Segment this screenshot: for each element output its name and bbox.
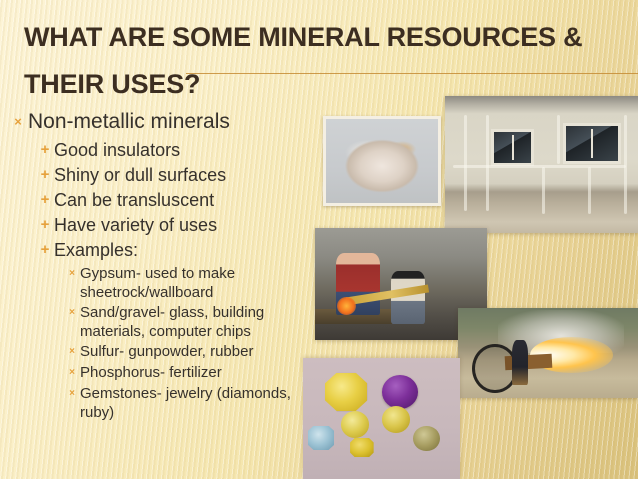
list-item: × Sand/gravel- glass, building materials… xyxy=(64,302,326,341)
list-item: × Gemstones- jewelry (diamonds, ruby) xyxy=(64,383,326,422)
list-item-label: Sulfur- gunpowder, rubber xyxy=(80,341,326,361)
title-line-1: What are some mineral resources & xyxy=(24,22,494,53)
list-item-label: Gypsum- used to make sheetrock/wallboard xyxy=(80,263,326,302)
drywall-seam xyxy=(542,167,545,214)
drywall-seam xyxy=(588,167,591,214)
gemstone-olive-oval xyxy=(413,426,440,451)
drywall-seam xyxy=(464,115,467,211)
gemstone-yellow-emerald-cut xyxy=(350,438,374,457)
gemstone-amethyst-round xyxy=(382,375,418,409)
list-item-label: Can be transluscent xyxy=(54,188,326,212)
list-item: × Gypsum- used to make sheetrock/wallboa… xyxy=(64,263,326,302)
bullet-marker-plus-icon: + xyxy=(36,163,54,187)
window-left xyxy=(491,129,533,166)
gemstone-citrine-octagon xyxy=(325,373,367,412)
gemstones-photo xyxy=(303,358,460,479)
list-item-label: Gemstones- jewelry (diamonds, ruby) xyxy=(80,383,326,422)
list-item-label: Shiny or dull surfaces xyxy=(54,163,326,187)
list-item: + Good insulators xyxy=(36,138,326,162)
list-item-label: Good insulators xyxy=(54,138,326,162)
bullet-marker-plus-icon: + xyxy=(36,238,54,262)
list-item: × Phosphorus- fertilizer xyxy=(64,362,326,383)
list-item: + Shiny or dull surfaces xyxy=(36,163,326,187)
soldier-figure xyxy=(512,340,528,385)
presentation-slide: What are some mineral resources & What a… xyxy=(0,0,638,479)
list-item-label: Phosphorus- fertilizer xyxy=(80,362,326,382)
cannon-firing-photo xyxy=(458,308,638,398)
bullet-marker-x-icon: × xyxy=(8,108,28,135)
bullet-list: × Non-metallic minerals + Good insulator… xyxy=(8,108,326,422)
bullet-marker-x-icon: × xyxy=(64,383,80,404)
slide-title: What are some mineral resources & What a… xyxy=(24,22,494,116)
drywall-room-photo xyxy=(445,96,638,233)
gemstone-yellow-round-right xyxy=(382,406,410,433)
bullet-marker-plus-icon: + xyxy=(36,213,54,237)
list-item: + Can be transluscent xyxy=(36,188,326,212)
list-item: + Examples: xyxy=(36,238,326,262)
title-line-1-reflection-wrap: What are some mineral resources & xyxy=(24,53,494,69)
drywall-seam xyxy=(453,165,627,168)
cannon-firing-photo-content xyxy=(458,308,638,398)
bullet-marker-x-icon: × xyxy=(64,341,80,362)
list-item: + Have variety of uses xyxy=(36,213,326,237)
list-item-label: Sand/gravel- glass, building materials, … xyxy=(80,302,326,341)
gemstone-aquamarine-square xyxy=(308,426,335,450)
drywall-seam xyxy=(486,115,489,211)
list-item-label: Have variety of uses xyxy=(54,213,326,237)
list-item-label: Non-metallic minerals xyxy=(28,108,326,135)
gypsum-rock-photo-content xyxy=(326,119,438,203)
bullet-marker-x-icon: × xyxy=(64,362,80,383)
gemstone-yellow-round-left xyxy=(341,411,369,438)
drywall-room-photo-content xyxy=(445,96,638,233)
list-item: × Non-metallic minerals xyxy=(8,108,326,135)
bullet-marker-plus-icon: + xyxy=(36,138,54,162)
list-item: × Sulfur- gunpowder, rubber xyxy=(64,341,326,362)
gypsum-rock-photo xyxy=(323,116,441,206)
list-item-label: Examples: xyxy=(54,238,326,262)
bullet-marker-plus-icon: + xyxy=(36,188,54,212)
gemstones-photo-content xyxy=(303,358,460,479)
bullet-marker-x-icon: × xyxy=(64,263,80,284)
drywall-seam xyxy=(557,115,560,164)
bullet-marker-x-icon: × xyxy=(64,302,80,323)
title-divider-rule xyxy=(186,73,638,74)
window-right xyxy=(563,123,621,164)
